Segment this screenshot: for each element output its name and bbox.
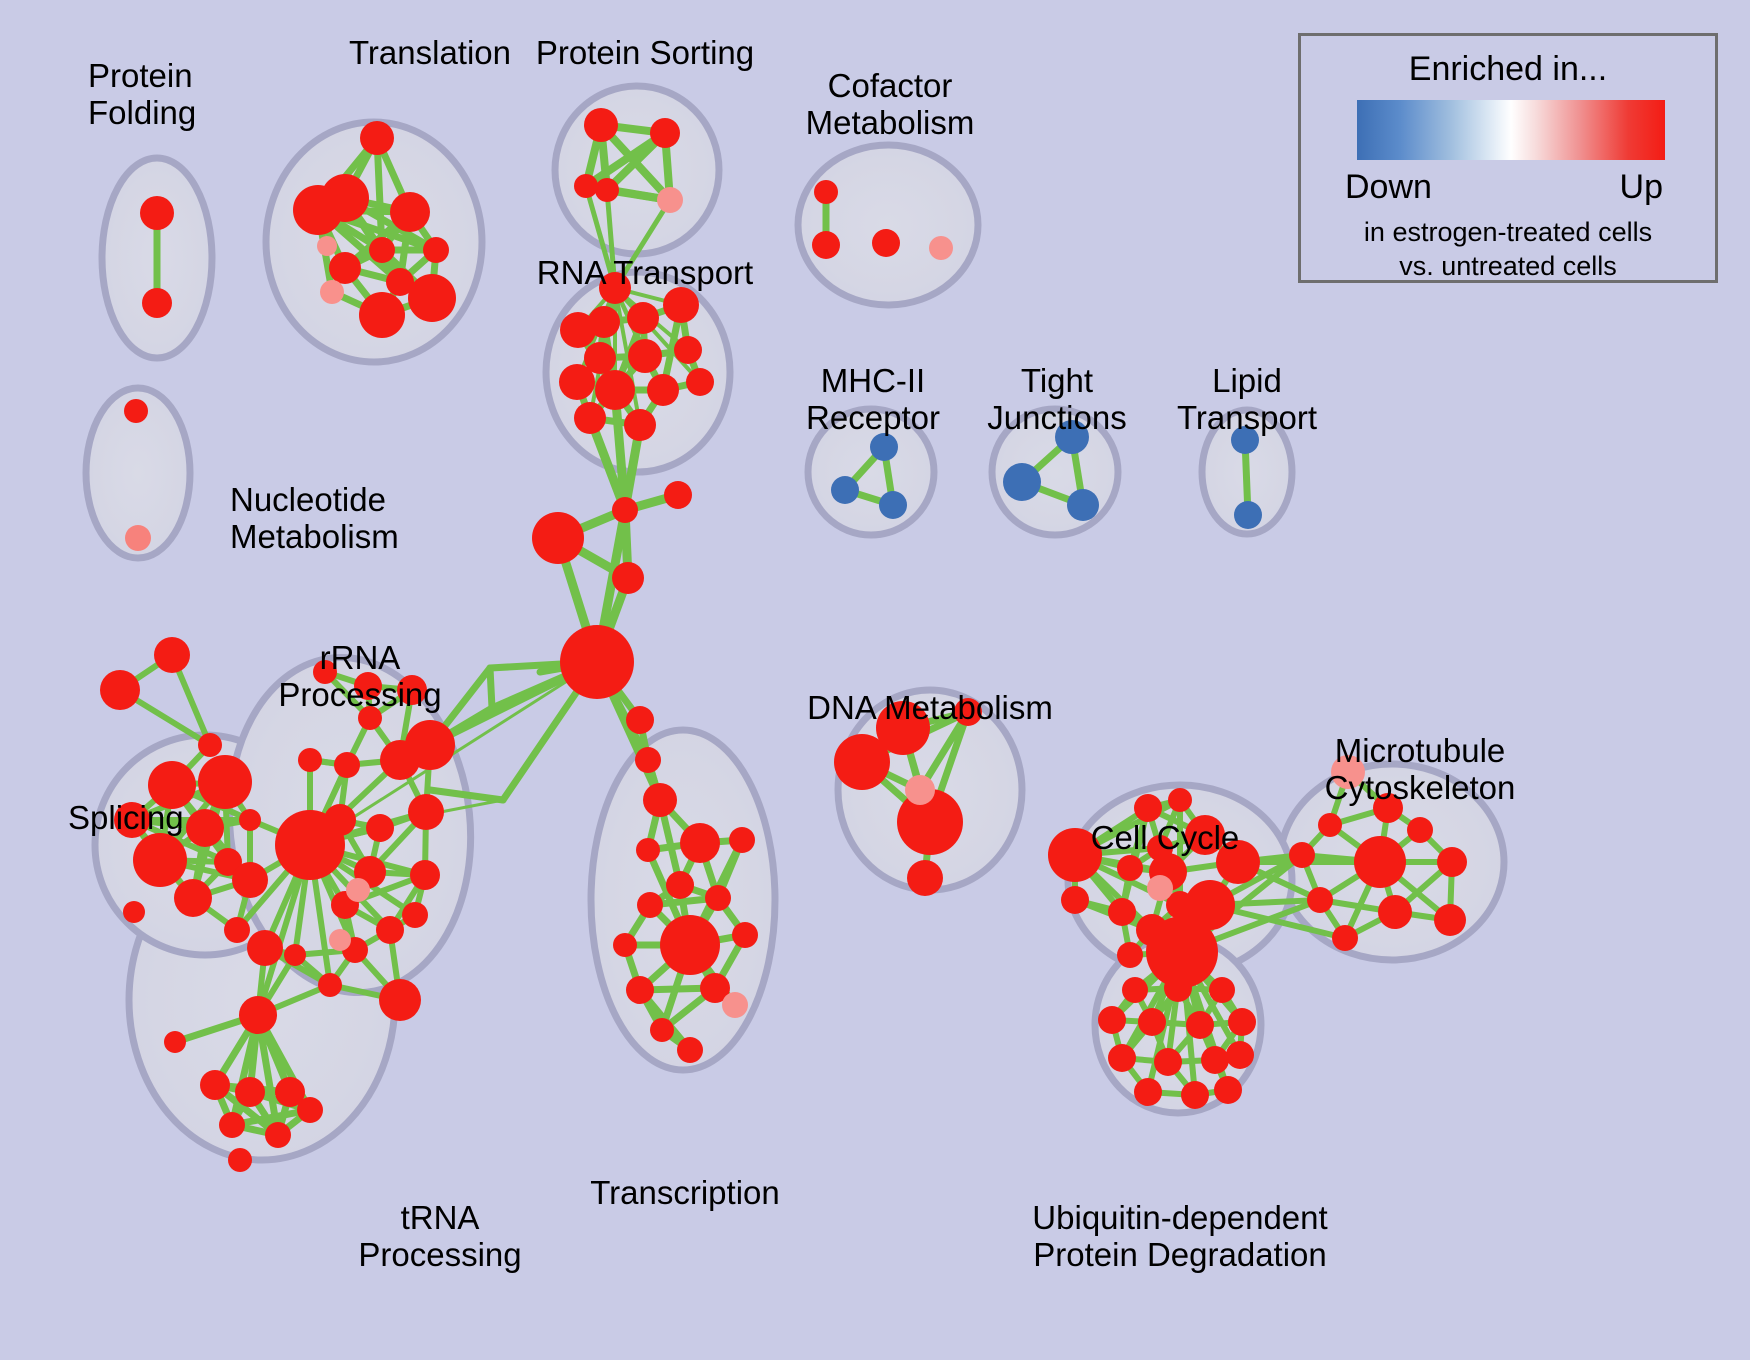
node	[219, 1112, 245, 1138]
node	[729, 827, 755, 853]
node	[929, 236, 953, 260]
node	[664, 481, 692, 509]
node	[626, 976, 654, 1004]
node	[660, 915, 720, 975]
cluster-label-rrna-processing: rRNA Processing	[255, 640, 465, 714]
node	[360, 121, 394, 155]
node	[905, 775, 935, 805]
node	[637, 892, 663, 918]
node	[247, 930, 283, 966]
node	[1154, 1048, 1182, 1076]
cluster-label-cell-cycle: Cell Cycle	[1040, 820, 1290, 857]
cluster-label-cofactor-metabolism: Cofactor Metabolism	[775, 68, 1005, 142]
cluster-label-transcription: Transcription	[560, 1175, 810, 1212]
node	[650, 118, 680, 148]
node	[1134, 794, 1162, 822]
node	[298, 748, 322, 772]
node	[198, 733, 222, 757]
node	[1209, 977, 1235, 1003]
node	[275, 810, 345, 880]
node	[635, 747, 661, 773]
node	[1098, 1006, 1126, 1034]
cluster-label-dna-metabolism: DNA Metabolism	[780, 690, 1080, 727]
legend-caption-line2: vs. untreated cells	[1399, 251, 1617, 281]
node	[574, 402, 606, 434]
node	[663, 287, 699, 323]
legend-title: Enriched in...	[1301, 50, 1715, 89]
node	[1186, 1011, 1214, 1039]
cluster-label-ubiquitin-protein-degradation: Ubiquitin-dependent Protein Degradation	[975, 1200, 1385, 1274]
node	[1407, 817, 1433, 843]
node	[657, 187, 683, 213]
node	[1307, 887, 1333, 913]
enrichment-map-figure: Protein Folding Translation Protein Sort…	[0, 0, 1750, 1360]
node	[239, 996, 277, 1034]
node	[834, 734, 890, 790]
node	[408, 794, 444, 830]
legend-up-label: Up	[1620, 168, 1663, 207]
node	[359, 292, 405, 338]
node	[402, 902, 428, 928]
cluster-label-trna-processing: tRNA Processing	[330, 1200, 550, 1274]
node	[626, 706, 654, 734]
node	[686, 368, 714, 396]
node	[831, 476, 859, 504]
cluster-label-tight-junctions: Tight Junctions	[962, 363, 1152, 437]
node	[612, 497, 638, 523]
node	[198, 755, 252, 809]
node	[559, 364, 595, 400]
node	[872, 229, 900, 257]
legend-down-label: Down	[1345, 168, 1432, 207]
node	[1332, 925, 1358, 951]
node	[1117, 855, 1143, 881]
node	[1214, 1076, 1242, 1104]
node	[334, 752, 360, 778]
node	[1378, 895, 1412, 929]
cluster-label-rna-transport: RNA Transport	[500, 255, 790, 292]
node	[423, 237, 449, 263]
node	[200, 1070, 230, 1100]
node	[320, 280, 344, 304]
cluster-label-mhc-ii-receptor: MHC-II Receptor	[778, 363, 968, 437]
node	[1354, 836, 1406, 888]
node	[1434, 904, 1466, 936]
node	[1234, 501, 1262, 529]
node	[1061, 886, 1089, 914]
node	[1138, 1008, 1166, 1036]
node	[154, 637, 190, 673]
node	[239, 809, 261, 831]
cluster-label-lipid-transport: Lipid Transport	[1152, 363, 1342, 437]
node	[140, 196, 174, 230]
node	[907, 860, 943, 896]
node	[613, 933, 637, 957]
node	[1003, 463, 1041, 501]
cluster-label-protein-folding: Protein Folding	[88, 58, 196, 132]
node	[1108, 898, 1136, 926]
node	[410, 860, 440, 890]
node	[532, 512, 584, 564]
node	[595, 370, 635, 410]
node	[297, 1097, 323, 1123]
node	[142, 288, 172, 318]
legend-caption: in estrogen-treated cellsvs. untreated c…	[1301, 216, 1715, 284]
node	[125, 525, 151, 551]
node	[386, 268, 414, 296]
node	[612, 562, 644, 594]
node	[647, 374, 679, 406]
node	[123, 901, 145, 923]
node	[1226, 1041, 1254, 1069]
node	[595, 178, 619, 202]
node	[680, 823, 720, 863]
node	[318, 973, 342, 997]
legend-gradient-bar	[1357, 100, 1665, 160]
node	[1164, 974, 1192, 1002]
node	[732, 922, 758, 948]
node	[628, 339, 662, 373]
node	[366, 814, 394, 842]
node	[1318, 813, 1342, 837]
node	[879, 491, 907, 519]
node	[812, 231, 840, 259]
node	[1181, 1081, 1209, 1109]
node	[1228, 1008, 1256, 1036]
node	[650, 1018, 674, 1042]
node	[232, 862, 268, 898]
node	[574, 174, 598, 198]
node	[1122, 977, 1148, 1003]
node	[405, 720, 455, 770]
node	[1117, 942, 1143, 968]
node	[164, 1031, 186, 1053]
node	[636, 838, 660, 862]
node	[627, 302, 659, 334]
node	[560, 625, 634, 699]
node	[224, 917, 250, 943]
node	[390, 192, 430, 232]
node	[329, 929, 351, 951]
node	[1134, 1078, 1162, 1106]
node	[1147, 875, 1173, 901]
node	[584, 108, 618, 142]
node	[369, 237, 395, 263]
node	[346, 878, 370, 902]
cluster-label-microtubule-cytoskeleton: Microtubule Cytoskeleton	[1270, 733, 1570, 807]
node	[705, 885, 731, 911]
node	[376, 916, 404, 944]
node	[265, 1122, 291, 1148]
node	[1201, 1046, 1229, 1074]
node	[293, 185, 343, 235]
node	[674, 336, 702, 364]
node	[870, 433, 898, 461]
node	[235, 1077, 265, 1107]
node	[100, 670, 140, 710]
node	[174, 879, 212, 917]
node	[284, 944, 306, 966]
cluster-label-splicing: Splicing	[68, 800, 184, 837]
color-legend: Enriched in... Down Up in estrogen-treat…	[1298, 33, 1718, 283]
node	[814, 180, 838, 204]
node	[677, 1037, 703, 1063]
legend-caption-line1: in estrogen-treated cells	[1364, 217, 1652, 247]
node	[1108, 1044, 1136, 1072]
node	[317, 236, 337, 256]
node	[1168, 788, 1192, 812]
node	[1437, 847, 1467, 877]
node	[329, 252, 361, 284]
node	[1289, 842, 1315, 868]
node	[186, 809, 224, 847]
node	[643, 783, 677, 817]
node	[228, 1148, 252, 1172]
cluster-label-nucleotide-metabolism: Nucleotide Metabolism	[230, 482, 399, 556]
node	[666, 871, 694, 899]
node	[588, 306, 620, 338]
node	[624, 409, 656, 441]
node	[722, 992, 748, 1018]
node	[1067, 489, 1099, 521]
cluster-label-protein-sorting: Protein Sorting	[500, 35, 790, 72]
node	[133, 833, 187, 887]
node	[379, 979, 421, 1021]
node	[408, 274, 456, 322]
node	[124, 399, 148, 423]
